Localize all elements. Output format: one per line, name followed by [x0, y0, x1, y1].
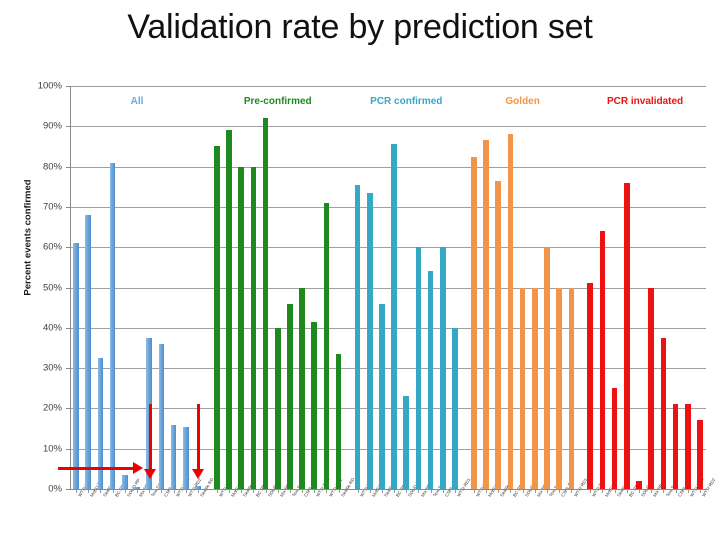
x-tickmark [700, 490, 701, 493]
bar [587, 283, 593, 489]
gridline [70, 288, 706, 289]
x-tickmark [125, 490, 126, 493]
baseline-arrow-head [133, 462, 143, 474]
bar [311, 322, 317, 489]
bar [648, 288, 654, 490]
bar [685, 404, 691, 489]
x-tick-label: WTSI RD1 [456, 477, 471, 497]
bar [495, 181, 501, 489]
bar [355, 185, 361, 489]
bar [214, 146, 220, 489]
group-label-pre-confirmed: Pre-confirmed [244, 96, 312, 107]
x-tick-label: WTSI RD1 [573, 477, 588, 497]
x-tickmark [443, 490, 444, 493]
x-tickmark [651, 490, 652, 493]
bar [275, 328, 281, 489]
x-tickmark [406, 490, 407, 493]
x-tickmark [217, 490, 218, 493]
x-axis-line [70, 489, 706, 490]
x-tickmark [314, 490, 315, 493]
bar [532, 288, 538, 490]
x-tickmark [186, 490, 187, 493]
group-label-pcr-confirmed: PCR confirmed [370, 96, 442, 107]
bar [122, 475, 128, 489]
bar [569, 288, 575, 490]
x-tickmark [663, 490, 664, 493]
x-tickmark [639, 490, 640, 493]
group-label-golden: Golden [505, 96, 539, 107]
x-tickmark [137, 490, 138, 493]
gridline [70, 368, 706, 369]
bar [624, 183, 630, 489]
bar [299, 288, 305, 490]
x-tickmark [76, 490, 77, 493]
x-tickmark [394, 490, 395, 493]
drop-arrow-2-shaft [197, 404, 200, 468]
x-tickmark [290, 490, 291, 493]
x-tickmark [302, 490, 303, 493]
bar [263, 118, 269, 489]
bar [226, 130, 232, 489]
bar [287, 304, 293, 489]
gridline [70, 126, 706, 127]
x-tickmark [676, 490, 677, 493]
bar [471, 157, 477, 489]
bar [183, 427, 189, 489]
bar [379, 304, 385, 489]
drop-arrow-1-head [144, 469, 156, 479]
bar [110, 163, 116, 489]
bar [452, 328, 458, 489]
x-tickmark [559, 490, 560, 493]
x-tickmark [198, 490, 199, 493]
y-tick-label: 100% [18, 81, 62, 92]
gridline [70, 86, 706, 87]
gridline [70, 247, 706, 248]
bar [416, 247, 422, 489]
x-tickmark [266, 490, 267, 493]
bar [428, 271, 434, 489]
x-tickmark [455, 490, 456, 493]
bar [520, 288, 526, 490]
x-tickmark [431, 490, 432, 493]
gridline [70, 167, 706, 168]
x-tickmark [486, 490, 487, 493]
baseline-arrow-shaft [58, 467, 134, 470]
slide-canvas: Validation rate by prediction set Percen… [0, 0, 720, 540]
bar [85, 215, 91, 489]
x-tickmark [370, 490, 371, 493]
y-tick-label: 20% [18, 403, 62, 414]
y-tick-label: 80% [18, 161, 62, 172]
x-tickmark [241, 490, 242, 493]
y-axis-line [70, 86, 71, 490]
drop-arrow-2-head [192, 469, 204, 479]
x-tickmark [326, 490, 327, 493]
bar [612, 388, 618, 489]
bar [73, 243, 79, 489]
x-tickmark [571, 490, 572, 493]
x-tickmark [174, 490, 175, 493]
x-tickmark [602, 490, 603, 493]
x-tickmark [590, 490, 591, 493]
bar [636, 481, 642, 489]
bar [697, 420, 703, 489]
drop-arrow-1-shaft [149, 404, 152, 468]
x-tickmark [278, 490, 279, 493]
x-tickmark [358, 490, 359, 493]
x-tickmark [253, 490, 254, 493]
y-tick-label: 10% [18, 443, 62, 454]
y-tick-label: 40% [18, 322, 62, 333]
bar [544, 247, 550, 489]
bar [673, 404, 679, 489]
x-tickmark [382, 490, 383, 493]
x-tickmark [474, 490, 475, 493]
x-tickmark [547, 490, 548, 493]
x-tickmark [418, 490, 419, 493]
y-axis-title: Percent events confirmed [23, 148, 34, 328]
gridline [70, 408, 706, 409]
x-tickmark [523, 490, 524, 493]
x-tickmark [113, 490, 114, 493]
bar [508, 134, 514, 489]
bar [324, 203, 330, 489]
bar [483, 140, 489, 489]
y-tick-label: 0% [18, 484, 62, 495]
gridline [70, 207, 706, 208]
y-tick-label: 60% [18, 242, 62, 253]
x-tickmark [510, 490, 511, 493]
gridline [70, 328, 706, 329]
bar [600, 231, 606, 489]
bar [403, 396, 409, 489]
x-tickmark [498, 490, 499, 493]
x-tickmark [339, 490, 340, 493]
bar [661, 338, 667, 489]
bar [238, 167, 244, 489]
x-tickmark [688, 490, 689, 493]
y-tick-label: 70% [18, 201, 62, 212]
bar [440, 247, 446, 489]
group-label-pcr-invalidated: PCR invalidated [607, 96, 683, 107]
bar [367, 193, 373, 489]
bar [336, 354, 342, 489]
x-tickmark [229, 490, 230, 493]
y-tick-label: 90% [18, 121, 62, 132]
bar [251, 167, 257, 489]
x-tickmark [535, 490, 536, 493]
x-tickmark [615, 490, 616, 493]
x-tickmark [627, 490, 628, 493]
y-tick-label: 30% [18, 363, 62, 374]
x-tickmark [149, 490, 150, 493]
bar [171, 425, 177, 489]
bar [556, 288, 562, 490]
x-tickmark [100, 490, 101, 493]
group-label-all: All [131, 96, 144, 107]
gridline [70, 449, 706, 450]
bar [159, 344, 165, 489]
chart-plot-area: Percent events confirmed0%10%20%30%40%50… [0, 0, 720, 540]
y-tick-label: 50% [18, 282, 62, 293]
x-tickmark [161, 490, 162, 493]
bar [391, 144, 397, 489]
x-tickmark [88, 490, 89, 493]
